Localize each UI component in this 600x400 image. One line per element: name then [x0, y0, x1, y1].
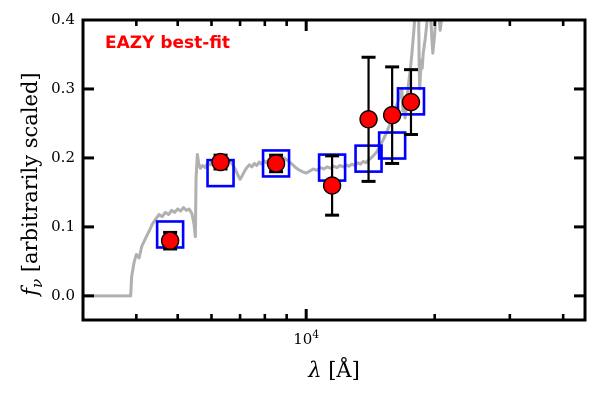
observed-photometry-point: [162, 232, 179, 249]
y-axis-tick-label: 0.0: [35, 286, 75, 304]
observed-photometry-point: [212, 154, 229, 171]
observed-photometry-point: [324, 177, 341, 194]
y-axis-tick-label: 0.2: [35, 148, 75, 166]
observed-photometry-point: [402, 94, 419, 111]
y-axis-tick-label: 0.1: [35, 217, 75, 235]
sed-figure: fν [arbitrarily scaled] λ [Å] EAZY best-…: [0, 0, 600, 400]
observed-photometry-point: [360, 111, 377, 128]
observed-photometry-point: [384, 107, 401, 124]
x-axis-tick-mantissa: 10: [293, 330, 312, 348]
y-axis-tick-label: 0.4: [35, 10, 75, 28]
observed-photometry-point: [268, 155, 285, 172]
x-axis-label-symbol: λ: [308, 358, 321, 382]
axes-frame: [83, 20, 585, 320]
y-axis-label-text: [arbitrarily scaled]: [18, 72, 42, 278]
x-axis-label-unit: [Å]: [328, 358, 360, 382]
x-axis-tick-exponent: 4: [312, 328, 319, 341]
x-axis-label: λ [Å]: [83, 358, 585, 382]
eazy-best-fit-annotation: EAZY best-fit: [105, 33, 230, 53]
x-axis-tick-label: 104: [266, 328, 346, 348]
y-axis-tick-label: 0.3: [35, 79, 75, 97]
